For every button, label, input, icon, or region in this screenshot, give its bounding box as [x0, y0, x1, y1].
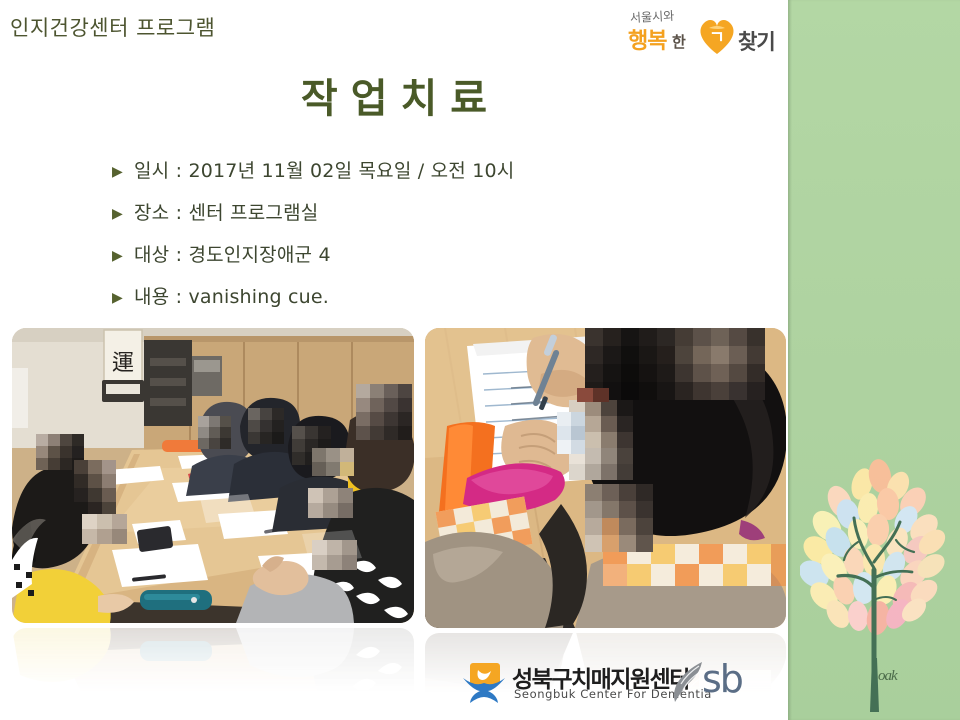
list-item: ▶ 일시 : 2017년 11월 02일 목요일 / 오전 10시: [112, 156, 762, 198]
center-mark-icon: [462, 662, 506, 704]
seongbuk-center-logo: 성북구치매지원센터 Seongbuk Center For Dementia s…: [462, 658, 772, 710]
seoul-logo-han-text: 한: [672, 31, 686, 52]
sb-wordmark: sb: [702, 657, 742, 701]
list-item-text: 장소 : 센터 프로그램실: [134, 198, 318, 225]
green-panel-edge: [788, 0, 792, 720]
page-title: 작업치료: [0, 66, 788, 124]
list-item: ▶ 내용 : vanishing cue.: [112, 282, 762, 324]
svg-text:ㄱ: ㄱ: [709, 28, 725, 48]
writing-closeup-photo: [425, 328, 786, 628]
shell-icon: [674, 660, 704, 704]
tree-signature: oak: [878, 668, 897, 685]
info-list: ▶ 일시 : 2017년 11월 02일 목요일 / 오전 10시 ▶ 장소 :…: [112, 156, 762, 324]
svg-text:運: 運: [112, 351, 134, 376]
list-item-text: 내용 : vanishing cue.: [134, 282, 329, 309]
seoul-happiness-logo: 서울시와 행복 한 ㄱ 찾기: [628, 8, 788, 60]
heart-icon: ㄱ: [696, 16, 738, 56]
group-session-photo-reflection: [12, 628, 414, 716]
seoul-logo-happy-text: 행복: [628, 23, 666, 55]
presentation-slide: oak 인지건강센터 프로그램 서울시와 행복 한 ㄱ 찾기 작업치료 ▶ 일시…: [0, 0, 960, 720]
list-item-text: 일시 : 2017년 11월 02일 목요일 / 오전 10시: [134, 156, 514, 183]
triangle-bullet-icon: ▶: [112, 290, 134, 304]
list-item: ▶ 대상 : 경도인지장애군 4: [112, 240, 762, 282]
list-item: ▶ 장소 : 센터 프로그램실: [112, 198, 762, 240]
list-item-text: 대상 : 경도인지장애군 4: [134, 240, 331, 267]
group-session-photo: 運: [12, 328, 414, 623]
tree-illustration: oak: [800, 450, 952, 712]
triangle-bullet-icon: ▶: [112, 206, 134, 220]
triangle-bullet-icon: ▶: [112, 248, 134, 262]
triangle-bullet-icon: ▶: [112, 164, 134, 178]
seoul-logo-find-text: 찾기: [738, 26, 775, 56]
page-kicker: 인지건강센터 프로그램: [10, 12, 215, 42]
